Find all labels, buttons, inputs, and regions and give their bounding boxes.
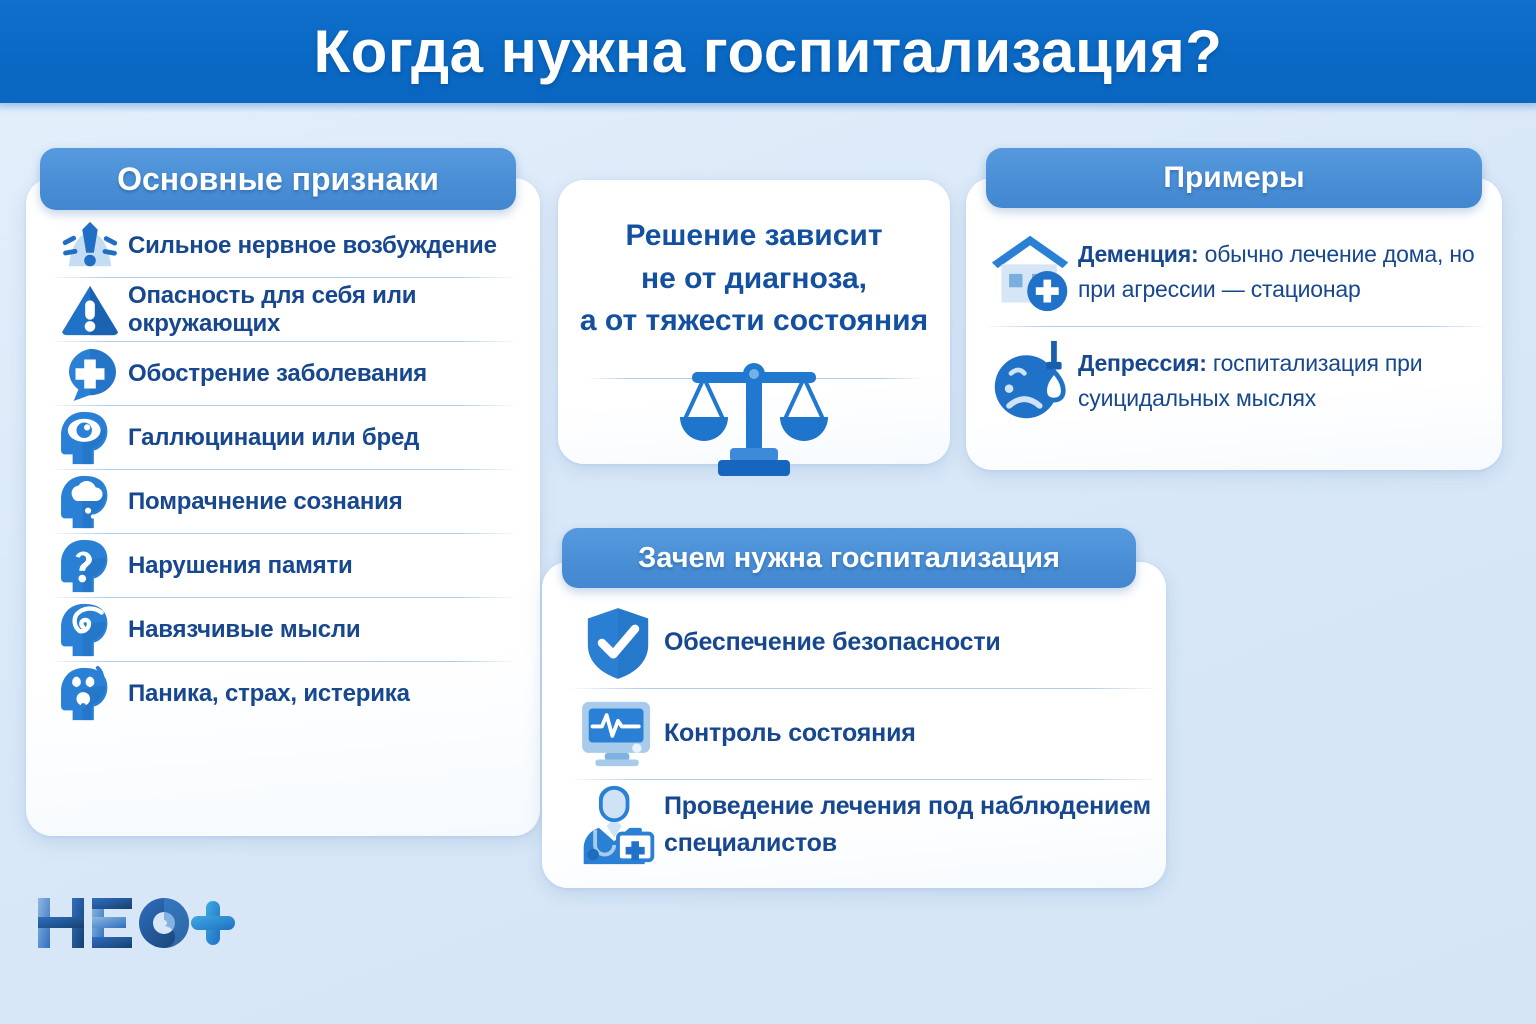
list-item-label: Паника, страх, истерика: [128, 680, 410, 708]
exclamation-burst-icon: [52, 215, 128, 277]
list-item-label: Сильное нервное возбуждение: [128, 232, 497, 260]
main-signs-list: Сильное нервное возбуждение Опасность дл…: [52, 214, 514, 725]
list-item-label: Помрачнение сознания: [128, 488, 403, 516]
purpose-tab-label: Зачем нужна госпитализация: [638, 544, 1060, 573]
list-item: Контроль состояния: [572, 689, 1156, 779]
balance-scales-icon: [672, 356, 836, 480]
list-item: Обострение заболевания: [52, 342, 514, 405]
house-medical-icon: [986, 226, 1078, 318]
list-item-label: Контроль состояния: [664, 715, 916, 753]
head-question-icon: [52, 535, 128, 597]
list-item: Навязчивые мысли: [52, 598, 514, 661]
examples-tab: Примеры: [986, 148, 1482, 208]
doctor-icon: [572, 783, 664, 867]
speech-bubble-cross-icon: [52, 343, 128, 405]
head-eye-icon: [52, 407, 128, 469]
list-item: Нарушения памяти: [52, 534, 514, 597]
purpose-tab: Зачем нужна госпитализация: [562, 528, 1136, 588]
main-signs-tab: Основные признаки: [40, 148, 516, 210]
list-item: Обеспечение безопасности: [572, 598, 1156, 688]
list-item-label: Депрессия: госпитализация при суицидальн…: [1078, 346, 1486, 416]
warning-triangle-icon: [52, 279, 128, 341]
purpose-list: Обеспечение безопасности Контроль состоя…: [572, 598, 1156, 870]
list-item-term: Депрессия:: [1078, 350, 1207, 376]
header-glow-divider: [0, 103, 1536, 113]
examples-tab-label: Примеры: [1163, 163, 1304, 193]
list-item-label: Проведение лечения под наблюдением специ…: [664, 788, 1156, 863]
list-item-label: Обеспечение безопасности: [664, 624, 1001, 662]
sad-face-teardrop-icon: [986, 335, 1078, 427]
page-title: Когда нужна госпитализация?: [314, 22, 1223, 82]
shield-check-icon: [572, 601, 664, 685]
examples-list: Деменция: обычно лечение дома, но при аг…: [986, 218, 1486, 435]
main-signs-tab-label: Основные признаки: [117, 163, 439, 195]
list-item-label: Нарушения памяти: [128, 552, 353, 580]
list-item: Помрачнение сознания: [52, 470, 514, 533]
head-spiral-icon: [52, 599, 128, 661]
list-item: Галлюцинации или бред: [52, 406, 514, 469]
list-item: Проведение лечения под наблюдением специ…: [572, 780, 1156, 870]
list-item-label: Галлюцинации или бред: [128, 424, 419, 452]
list-item-term: Деменция:: [1078, 241, 1198, 267]
list-item-label: Навязчивые мысли: [128, 616, 361, 644]
list-item: Опасность для себя или окружающих: [52, 278, 514, 341]
neo-plus-logo: [36, 892, 236, 954]
list-item-label: Деменция: обычно лечение дома, но при аг…: [1078, 237, 1486, 307]
list-item: Паника, страх, истерика: [52, 662, 514, 725]
list-item-label: Обострение заболевания: [128, 360, 427, 388]
decision-statement-text: Решение зависит не от диагноза, а от тяж…: [558, 215, 950, 343]
list-item: Деменция: обычно лечение дома, но при аг…: [986, 218, 1486, 326]
list-item-label: Опасность для себя или окружающих: [128, 282, 514, 338]
decision-line-1: Решение зависит: [558, 215, 950, 258]
list-item: Депрессия: госпитализация при суицидальн…: [986, 327, 1486, 435]
heart-monitor-icon: [572, 692, 664, 776]
page-header-banner: Когда нужна госпитализация?: [0, 0, 1536, 103]
head-cloud-icon: [52, 471, 128, 533]
decision-line-3: а от тяжести состояния: [558, 300, 950, 343]
list-item: Сильное нервное возбуждение: [52, 214, 514, 277]
decision-line-2: не от диагноза,: [558, 258, 950, 301]
head-panic-icon: [52, 663, 128, 725]
